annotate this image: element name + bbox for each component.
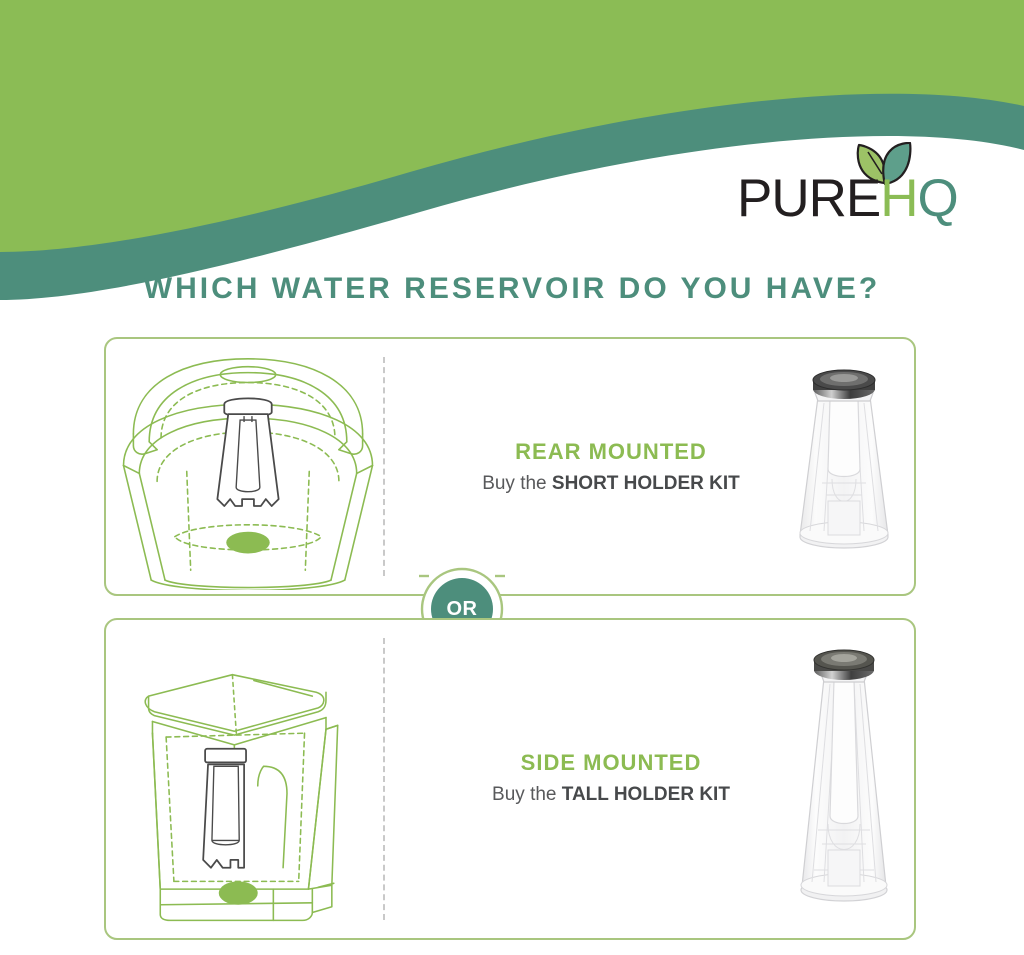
brand-word-pure: PURE (737, 169, 880, 228)
brand-word-q: Q (918, 169, 958, 228)
option-sub-bold-rear: SHORT HOLDER KIT (552, 473, 740, 494)
option-subtitle-side: Buy the TALL HOLDER KIT (446, 784, 776, 806)
brand-logo: PUREHQ (737, 142, 927, 232)
page-title: WHICH WATER RESERVOIR DO YOU HAVE? (0, 272, 1024, 306)
option-title-rear: REAR MOUNTED (446, 439, 776, 465)
brand-word-h: H (880, 169, 917, 228)
option-sub-prefix-rear: Buy the (482, 473, 552, 494)
option-card-rear-mounted[interactable]: REAR MOUNTED Buy the SHORT HOLDER KIT (104, 337, 916, 596)
tall-holder-kit-photo (774, 638, 914, 928)
option-text-side-mounted: SIDE MOUNTED Buy the TALL HOLDER KIT (446, 750, 776, 806)
option-card-side-mounted[interactable]: SIDE MOUNTED Buy the TALL HOLDER KIT (104, 618, 916, 940)
option-title-side: SIDE MOUNTED (446, 750, 776, 776)
option-sub-bold-side: TALL HOLDER KIT (562, 784, 730, 805)
card-divider-rear (383, 357, 385, 576)
brand-wordmark: PUREHQ (737, 170, 927, 228)
card-divider-side (383, 638, 385, 920)
rear-mounted-reservoir-diagram (114, 343, 382, 590)
option-text-rear-mounted: REAR MOUNTED Buy the SHORT HOLDER KIT (446, 439, 776, 495)
infographic-page: PUREHQ WHICH WATER RESERVOIR DO YOU HAVE… (0, 0, 1024, 955)
filter-port-dot (219, 881, 258, 904)
side-mounted-reservoir-diagram (114, 624, 382, 934)
option-subtitle-rear: Buy the SHORT HOLDER KIT (446, 473, 776, 495)
option-sub-prefix-side: Buy the (492, 784, 562, 805)
filter-port-dot (226, 532, 269, 554)
short-holder-kit-photo (774, 359, 914, 574)
